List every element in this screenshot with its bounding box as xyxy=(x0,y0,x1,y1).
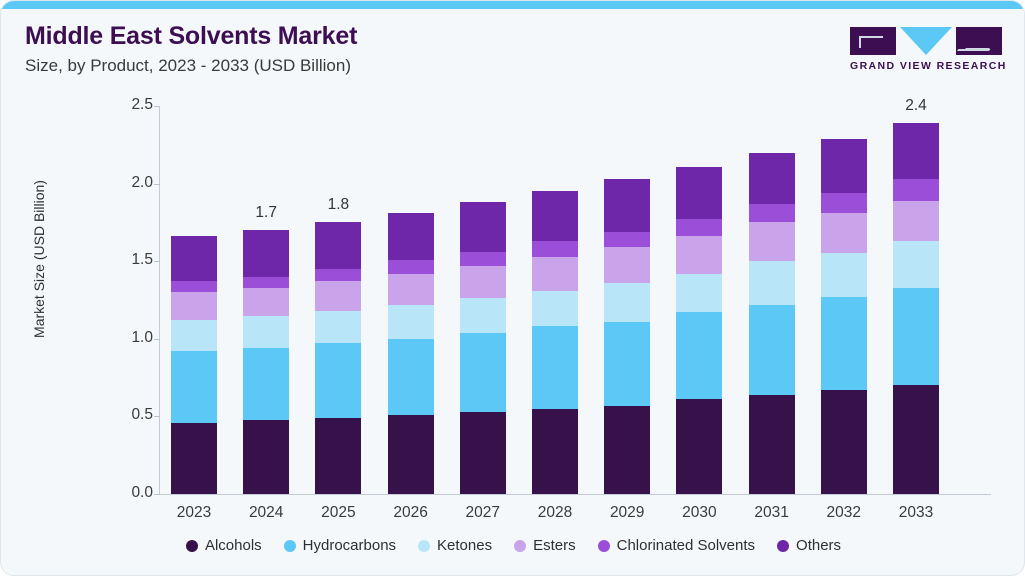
bar-segment[interactable] xyxy=(171,351,217,422)
bar-segment[interactable] xyxy=(315,418,361,494)
y-tick-label: 2.0 xyxy=(105,174,153,192)
legend-color-dot xyxy=(598,540,610,552)
y-tick-label: 2.5 xyxy=(105,96,153,114)
bar-segment[interactable] xyxy=(388,415,434,494)
bar-value-label: 1.8 xyxy=(298,196,378,214)
bar-segment[interactable] xyxy=(604,406,650,494)
bar-segment[interactable] xyxy=(171,292,217,320)
x-tick-label: 2027 xyxy=(443,504,523,522)
legend-item[interactable]: Others xyxy=(777,537,841,554)
x-tick-label: 2024 xyxy=(226,504,306,522)
bar-segment[interactable] xyxy=(821,297,867,390)
bar-segment[interactable] xyxy=(532,241,578,257)
y-tick-mark xyxy=(154,339,160,340)
bar-segment[interactable] xyxy=(532,257,578,291)
x-tick-label: 2033 xyxy=(876,504,956,522)
bar-segment[interactable] xyxy=(749,395,795,494)
legend-item[interactable]: Ketones xyxy=(418,537,492,554)
legend-color-dot xyxy=(284,540,296,552)
y-tick-label: 1.0 xyxy=(105,329,153,347)
bar-segment[interactable] xyxy=(460,412,506,494)
legend-color-dot xyxy=(418,540,430,552)
bar-segment[interactable] xyxy=(604,179,650,232)
bar-segment[interactable] xyxy=(388,213,434,260)
bar-segment[interactable] xyxy=(749,305,795,395)
bar-segment[interactable] xyxy=(460,266,506,299)
bar-segment[interactable] xyxy=(749,261,795,304)
x-tick-label: 2029 xyxy=(587,504,667,522)
bar-segment[interactable] xyxy=(821,213,867,253)
x-tick-label: 2030 xyxy=(659,504,739,522)
legend-color-dot xyxy=(186,540,198,552)
bar-segment[interactable] xyxy=(388,274,434,305)
bar-segment[interactable] xyxy=(171,236,217,281)
bar-segment[interactable] xyxy=(532,291,578,327)
bar-segment[interactable] xyxy=(171,281,217,292)
bar-segment[interactable] xyxy=(171,320,217,351)
y-tick-label: 0.0 xyxy=(105,484,153,502)
bar-segment[interactable] xyxy=(749,222,795,261)
bar-segment[interactable] xyxy=(821,193,867,213)
y-tick-mark xyxy=(154,416,160,417)
x-tick-label: 2032 xyxy=(804,504,884,522)
y-tick-mark xyxy=(154,261,160,262)
bar-stack[interactable] xyxy=(315,106,361,494)
bar-segment[interactable] xyxy=(749,204,795,223)
bar-segment[interactable] xyxy=(243,348,289,419)
bar-stack[interactable] xyxy=(243,106,289,494)
bar-segment[interactable] xyxy=(604,283,650,322)
legend-label: Esters xyxy=(533,537,576,554)
bar-stack[interactable] xyxy=(676,106,722,494)
bar-segment[interactable] xyxy=(315,311,361,344)
bar-segment[interactable] xyxy=(171,423,217,494)
bar-stack[interactable] xyxy=(604,106,650,494)
bar-segment[interactable] xyxy=(676,312,722,399)
bar-segment[interactable] xyxy=(388,305,434,339)
bar-segment[interactable] xyxy=(676,167,722,220)
bar-stack[interactable] xyxy=(460,106,506,494)
bar-stack[interactable] xyxy=(749,106,795,494)
legend-item[interactable]: Alcohols xyxy=(186,537,262,554)
bar-value-label: 1.7 xyxy=(226,204,306,222)
chart-legend: AlcoholsHydrocarbonsKetonesEstersChlorin… xyxy=(1,537,1025,554)
bar-segment[interactable] xyxy=(532,191,578,241)
bar-segment[interactable] xyxy=(893,201,939,241)
legend-item[interactable]: Esters xyxy=(514,537,576,554)
bar-segment[interactable] xyxy=(460,298,506,332)
x-tick-label: 2026 xyxy=(371,504,451,522)
bar-value-label: 2.4 xyxy=(876,97,956,115)
bar-segment[interactable] xyxy=(821,390,867,494)
bar-segment[interactable] xyxy=(388,260,434,274)
bar-segment[interactable] xyxy=(676,274,722,313)
bar-segment[interactable] xyxy=(676,219,722,236)
legend-label: Hydrocarbons xyxy=(303,537,396,554)
bar-segment[interactable] xyxy=(243,420,289,494)
y-tick-mark xyxy=(154,494,160,495)
legend-label: Alcohols xyxy=(205,537,262,554)
legend-label: Ketones xyxy=(437,537,492,554)
bar-stack[interactable] xyxy=(171,106,217,494)
y-tick-label: 1.5 xyxy=(105,251,153,269)
y-tick-label: 0.5 xyxy=(105,406,153,424)
bar-segment[interactable] xyxy=(821,253,867,296)
y-axis-line xyxy=(159,106,160,495)
legend-color-dot xyxy=(777,540,789,552)
plot-area: Market Size (USD Billion) 0.00.51.01.52.… xyxy=(1,1,1025,576)
bar-stack[interactable] xyxy=(388,106,434,494)
bar-segment[interactable] xyxy=(676,236,722,273)
bar-segment[interactable] xyxy=(460,333,506,412)
y-tick-mark xyxy=(154,106,160,107)
bar-segment[interactable] xyxy=(893,385,939,494)
bar-segment[interactable] xyxy=(893,288,939,386)
legend-item[interactable]: Chlorinated Solvents xyxy=(598,537,755,554)
bar-stack[interactable] xyxy=(821,106,867,494)
legend-item[interactable]: Hydrocarbons xyxy=(284,537,396,554)
bar-segment[interactable] xyxy=(532,409,578,494)
bar-segment[interactable] xyxy=(243,288,289,316)
bar-segment[interactable] xyxy=(315,222,361,269)
y-axis-title: Market Size (USD Billion) xyxy=(31,129,47,389)
bar-segment[interactable] xyxy=(893,123,939,179)
bar-segment[interactable] xyxy=(315,343,361,417)
bar-segment[interactable] xyxy=(532,326,578,408)
bar-segment[interactable] xyxy=(676,399,722,494)
bar-segment[interactable] xyxy=(243,277,289,288)
x-tick-label: 2031 xyxy=(732,504,812,522)
x-tick-label: 2023 xyxy=(154,504,234,522)
bar-segment[interactable] xyxy=(388,339,434,415)
y-tick-mark xyxy=(154,184,160,185)
bar-segment[interactable] xyxy=(749,153,795,204)
legend-label: Chlorinated Solvents xyxy=(617,537,755,554)
bar-segment[interactable] xyxy=(460,202,506,252)
x-tick-label: 2025 xyxy=(298,504,378,522)
bar-segment[interactable] xyxy=(243,316,289,349)
bar-segment[interactable] xyxy=(604,322,650,406)
legend-label: Others xyxy=(796,537,841,554)
bar-stack[interactable] xyxy=(893,106,939,494)
bar-stack[interactable] xyxy=(532,106,578,494)
bar-segment[interactable] xyxy=(604,232,650,248)
bar-segment[interactable] xyxy=(243,230,289,277)
legend-color-dot xyxy=(514,540,526,552)
x-tick-label: 2028 xyxy=(515,504,595,522)
bar-segment[interactable] xyxy=(315,281,361,310)
bar-segment[interactable] xyxy=(604,247,650,283)
bar-segment[interactable] xyxy=(315,269,361,281)
x-axis-line xyxy=(159,494,991,495)
bar-segment[interactable] xyxy=(821,139,867,193)
bar-segment[interactable] xyxy=(893,179,939,201)
chart-card: Middle East Solvents Market Size, by Pro… xyxy=(0,0,1025,576)
bar-segment[interactable] xyxy=(460,252,506,266)
bar-segment[interactable] xyxy=(893,241,939,288)
